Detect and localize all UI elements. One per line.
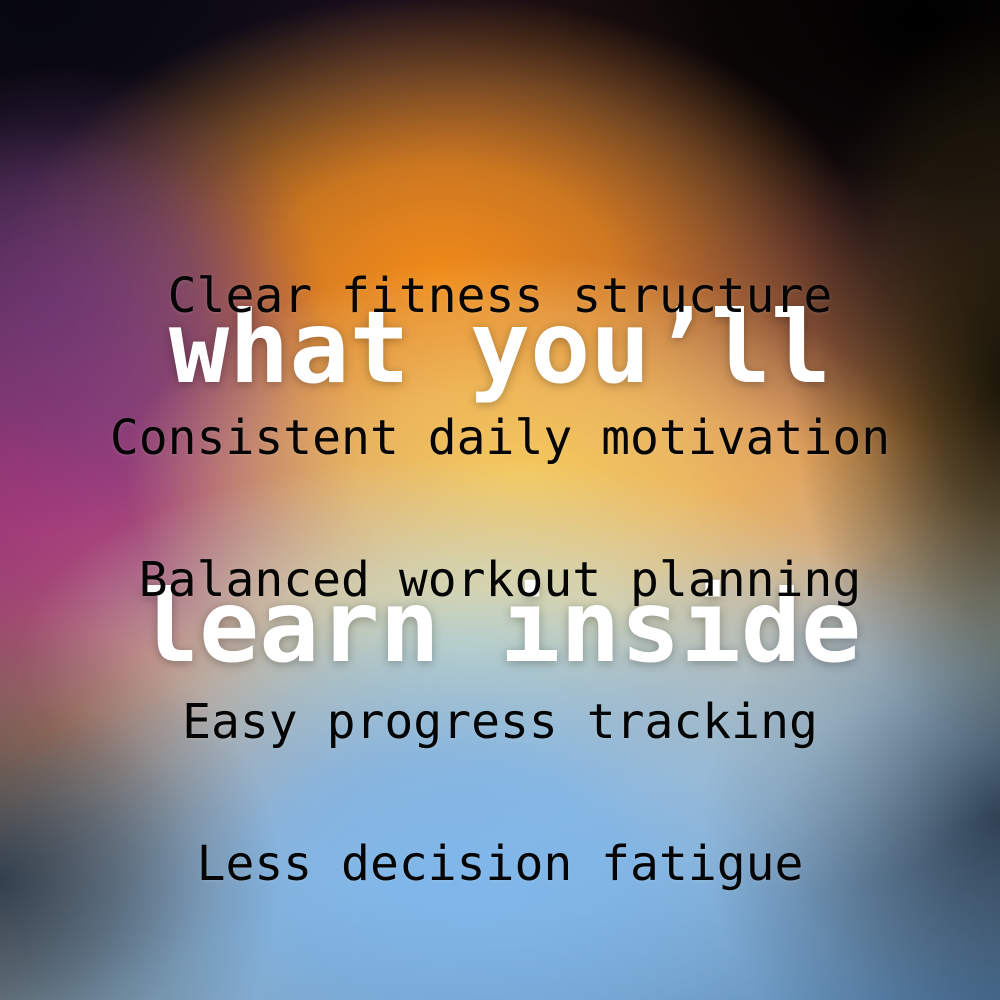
benefit-list: Clear fitness structure Consistent daily… (0, 272, 1000, 1000)
list-item: Less decision fatigue (0, 840, 1000, 888)
list-item: Balanced workout planning (0, 556, 1000, 604)
poster-canvas: what you’ll learn inside Clear fitness s… (0, 0, 1000, 1000)
poster-content: what you’ll learn inside Clear fitness s… (0, 0, 1000, 1000)
list-item: Easy progress tracking (0, 698, 1000, 746)
list-item: Consistent daily motivation (0, 414, 1000, 462)
list-item: Clear fitness structure (0, 272, 1000, 320)
